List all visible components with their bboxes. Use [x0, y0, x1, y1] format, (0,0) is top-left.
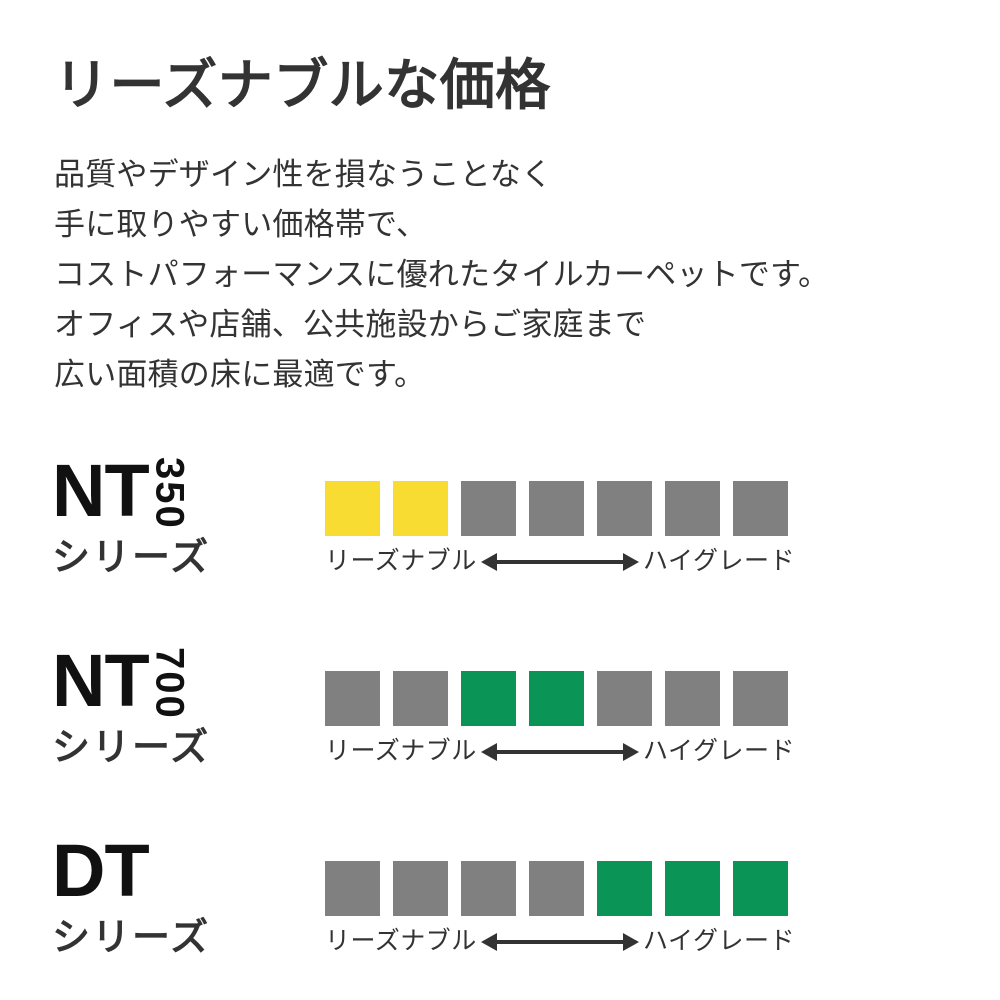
scale-swatch	[733, 671, 788, 726]
series-row: NT700シリーズリーズナブルハイグレード	[0, 645, 1000, 785]
scale-swatch	[461, 481, 516, 536]
scale-low-label: リーズナブル	[325, 739, 477, 764]
description-line: 手に取りやすい価格帯で、	[54, 200, 974, 250]
scale-high-label: ハイグレード	[643, 549, 795, 574]
series-sublabel: シリーズ	[52, 919, 302, 957]
scale-swatch	[665, 481, 720, 536]
arrow-bar	[495, 940, 625, 944]
series-label: NT350シリーズ	[52, 455, 302, 577]
scale-swatch	[461, 671, 516, 726]
scale-low-label: リーズナブル	[325, 929, 477, 954]
arrow-head-right	[623, 553, 639, 571]
description-line: コストパフォーマンスに優れたタイルカーペットです。	[54, 250, 974, 300]
description-lines: 品質やデザイン性を損なうことなく手に取りやすい価格帯で、コストパフォーマンスに優…	[54, 150, 974, 400]
series-code: DT	[52, 835, 149, 908]
scale-high-label: ハイグレード	[643, 929, 795, 954]
scale-legend: リーズナブルハイグレード	[325, 739, 795, 764]
swatch-strip	[325, 481, 795, 536]
scale-high-label: ハイグレード	[643, 739, 795, 764]
scale-swatch	[733, 481, 788, 536]
series-code: NT	[52, 645, 149, 718]
scale-legend: リーズナブルハイグレード	[325, 549, 795, 574]
series-row: NT350シリーズリーズナブルハイグレード	[0, 455, 1000, 595]
scale-swatch	[665, 861, 720, 916]
series-name: NT700	[52, 645, 302, 719]
description-line: 品質やデザイン性を損なうことなく	[54, 150, 974, 200]
double-arrow-icon	[481, 743, 639, 761]
series-label: NT700シリーズ	[52, 645, 302, 767]
series-name: NT350	[52, 455, 302, 529]
double-arrow-icon	[481, 933, 639, 951]
scale-swatch	[597, 861, 652, 916]
scale-swatch	[597, 671, 652, 726]
scale-swatch	[597, 481, 652, 536]
swatch-strip	[325, 861, 795, 916]
scale-low-label: リーズナブル	[325, 549, 477, 574]
series-code: NT	[52, 455, 149, 528]
arrow-head-right	[623, 743, 639, 761]
scale-swatch	[325, 481, 380, 536]
arrow-bar	[495, 750, 625, 754]
arrow-head-right	[623, 933, 639, 951]
series-number: 350	[150, 457, 190, 529]
scale-swatch	[665, 671, 720, 726]
price-grade-scale: リーズナブルハイグレード	[325, 861, 795, 954]
scale-swatch	[529, 861, 584, 916]
price-grade-scale: リーズナブルハイグレード	[325, 481, 795, 574]
swatch-strip	[325, 671, 795, 726]
price-grade-scale: リーズナブルハイグレード	[325, 671, 795, 764]
scale-legend: リーズナブルハイグレード	[325, 929, 795, 954]
series-sublabel: シリーズ	[52, 729, 302, 767]
scale-swatch	[393, 671, 448, 726]
description-line: 広い面積の床に最適です。	[54, 350, 974, 400]
scale-swatch	[529, 671, 584, 726]
scale-swatch	[393, 861, 448, 916]
series-number: 700	[150, 647, 190, 719]
scale-swatch	[733, 861, 788, 916]
series-row: DTシリーズリーズナブルハイグレード	[0, 835, 1000, 975]
scale-swatch	[529, 481, 584, 536]
series-label: DTシリーズ	[52, 835, 302, 957]
arrow-bar	[495, 560, 625, 564]
double-arrow-icon	[481, 553, 639, 571]
page-header: リーズナブルな価格	[54, 55, 954, 117]
series-sublabel: シリーズ	[52, 539, 302, 577]
page-title: リーズナブルな価格	[54, 55, 954, 117]
description-block: 品質やデザイン性を損なうことなく手に取りやすい価格帯で、コストパフォーマンスに優…	[54, 150, 974, 400]
scale-swatch	[325, 861, 380, 916]
description-line: オフィスや店舗、公共施設からご家庭まで	[54, 300, 974, 350]
series-name: DT	[52, 835, 302, 909]
scale-swatch	[393, 481, 448, 536]
scale-swatch	[461, 861, 516, 916]
scale-swatch	[325, 671, 380, 726]
